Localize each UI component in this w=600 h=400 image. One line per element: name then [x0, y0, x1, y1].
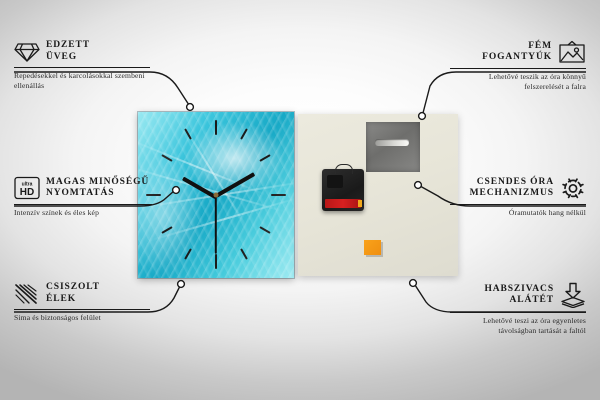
wire-endpoint	[187, 104, 194, 111]
callout-fem-foganytuk: FÉM FOGANTYÚK Lehetővé teszik az óra kön…	[450, 40, 586, 91]
callout-divider	[450, 204, 586, 205]
callout-divider	[450, 312, 586, 313]
foam-pad-icon	[560, 282, 586, 308]
callout-title: CSENDES ÓRA MECHANIZMUS	[470, 177, 554, 200]
wire-endpoint	[410, 280, 417, 287]
callout-description: Lehetővé teszi az óra egyenletes távolsá…	[450, 316, 586, 335]
ultra-hd-icon-bottom: HD	[20, 187, 34, 198]
metal-hanger	[366, 122, 420, 172]
picture-frame-icon	[558, 40, 586, 64]
callout-csiszolt-elek: CSISZOLT ÉLEK Sima és biztonságos felüle…	[14, 282, 150, 323]
polished-edges-icon	[14, 283, 40, 305]
callout-description: Repedésekkel és karcolásokkal szembeni e…	[14, 71, 150, 90]
mechanism-housing	[327, 175, 343, 188]
callout-magas-minosegu-nyomtatas: ultra HD MAGAS MINŐSÉGŰ NYOMTATÁS Intenz…	[14, 176, 152, 218]
callout-description: Óramutatók hang nélkül	[450, 208, 586, 218]
wire-endpoint	[178, 281, 185, 288]
callout-divider	[450, 68, 586, 69]
clock-mechanism	[322, 169, 364, 211]
callout-divider	[14, 204, 152, 205]
callout-habszivacs-alatet: HABSZIVACS ALÁTÉT Lehetővé teszi az óra …	[450, 282, 586, 335]
mechanism-loop	[335, 164, 353, 174]
gear-icon	[560, 176, 586, 200]
callout-title: EDZETT ÜVEG	[46, 40, 90, 63]
callout-description: Intenzív színek és éles kép	[14, 208, 152, 218]
infographic-canvas: EDZETT ÜVEG Repedésekkel és karcolásokka…	[0, 0, 600, 400]
callout-description: Lehetővé teszik az óra könnyű felszerelé…	[450, 72, 586, 91]
callout-divider	[14, 309, 150, 310]
product-image-group	[138, 112, 458, 280]
battery-terminal	[358, 200, 362, 207]
callout-title: FÉM FOGANTYÚK	[482, 41, 552, 64]
callout-title: CSISZOLT ÉLEK	[46, 282, 100, 305]
callout-csendes-ora-mechanizmus: CSENDES ÓRA MECHANIZMUS Óramutatók hang …	[450, 176, 586, 218]
glass-reflection	[138, 112, 294, 278]
callout-edzett-uveg: EDZETT ÜVEG Repedésekkel és karcolásokka…	[14, 40, 150, 90]
foam-pad	[364, 240, 381, 255]
clock-back-view	[298, 114, 458, 276]
callout-divider	[14, 67, 150, 68]
battery	[325, 199, 361, 208]
clock-front-view	[138, 112, 294, 278]
callout-title: HABSZIVACS ALÁTÉT	[484, 284, 554, 307]
ultra-hd-icon: ultra HD	[14, 176, 40, 200]
diamond-icon	[14, 41, 40, 63]
callout-title: MAGAS MINŐSÉGŰ NYOMTATÁS	[46, 177, 149, 200]
callout-description: Sima és biztonságos felület	[14, 313, 150, 323]
hanger-slot	[375, 139, 409, 146]
